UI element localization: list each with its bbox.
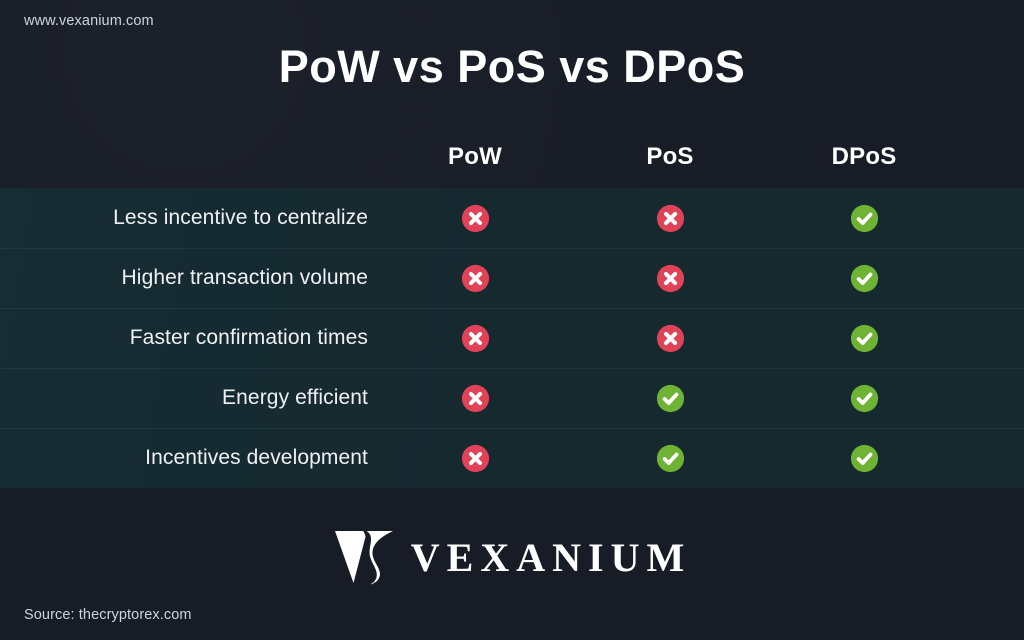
cell-dpos xyxy=(774,368,954,428)
row-label: Higher transaction volume xyxy=(0,248,368,308)
cell-dpos xyxy=(774,308,954,368)
table-row: Energy efficient xyxy=(0,368,1024,428)
column-header-pos: PoS xyxy=(580,143,760,171)
red-cross-circle-icon xyxy=(461,324,490,353)
vexanium-v-logo-icon xyxy=(333,528,395,586)
row-label: Energy efficient xyxy=(0,368,368,428)
comparison-table: Less incentive to centralizeHigher trans… xyxy=(0,188,1024,488)
table-row: Incentives development xyxy=(0,428,1024,488)
green-check-circle-icon xyxy=(850,384,879,413)
cell-pow xyxy=(385,428,565,488)
red-cross-circle-icon xyxy=(656,324,685,353)
red-cross-circle-icon xyxy=(461,384,490,413)
green-check-circle-icon xyxy=(850,324,879,353)
red-cross-circle-icon xyxy=(461,444,490,473)
table-row: Higher transaction volume xyxy=(0,248,1024,308)
red-cross-circle-icon xyxy=(461,264,490,293)
cell-pow xyxy=(385,248,565,308)
site-url-label: www.vexanium.com xyxy=(24,13,154,29)
red-cross-circle-icon xyxy=(656,204,685,233)
cell-pos xyxy=(580,248,760,308)
infographic-page: www.vexanium.com PoW vs PoS vs DPoS PoW … xyxy=(0,0,1024,640)
red-cross-circle-icon xyxy=(461,204,490,233)
page-title: PoW vs PoS vs DPoS xyxy=(0,41,1024,93)
cell-dpos xyxy=(774,188,954,248)
cell-pow xyxy=(385,308,565,368)
brand-logo: VEXANIUM xyxy=(0,528,1024,586)
green-check-circle-icon xyxy=(656,384,685,413)
green-check-circle-icon xyxy=(850,204,879,233)
cell-pos xyxy=(580,368,760,428)
column-header-pow: PoW xyxy=(385,143,565,171)
cell-dpos xyxy=(774,248,954,308)
cell-dpos xyxy=(774,428,954,488)
cell-pos xyxy=(580,188,760,248)
table-row: Less incentive to centralize xyxy=(0,188,1024,248)
cell-pow xyxy=(385,188,565,248)
brand-name-label: VEXANIUM xyxy=(411,536,691,578)
row-label: Faster confirmation times xyxy=(0,308,368,368)
red-cross-circle-icon xyxy=(656,264,685,293)
cell-pos xyxy=(580,428,760,488)
cell-pos xyxy=(580,308,760,368)
green-check-circle-icon xyxy=(656,444,685,473)
green-check-circle-icon xyxy=(850,444,879,473)
source-label: Source: thecryptorex.com xyxy=(24,607,192,623)
cell-pow xyxy=(385,368,565,428)
column-header-dpos: DPoS xyxy=(774,143,954,171)
green-check-circle-icon xyxy=(850,264,879,293)
table-row: Faster confirmation times xyxy=(0,308,1024,368)
column-header-row: PoW PoS DPoS xyxy=(0,143,1024,181)
row-label: Incentives development xyxy=(0,428,368,488)
row-label: Less incentive to centralize xyxy=(0,188,368,248)
